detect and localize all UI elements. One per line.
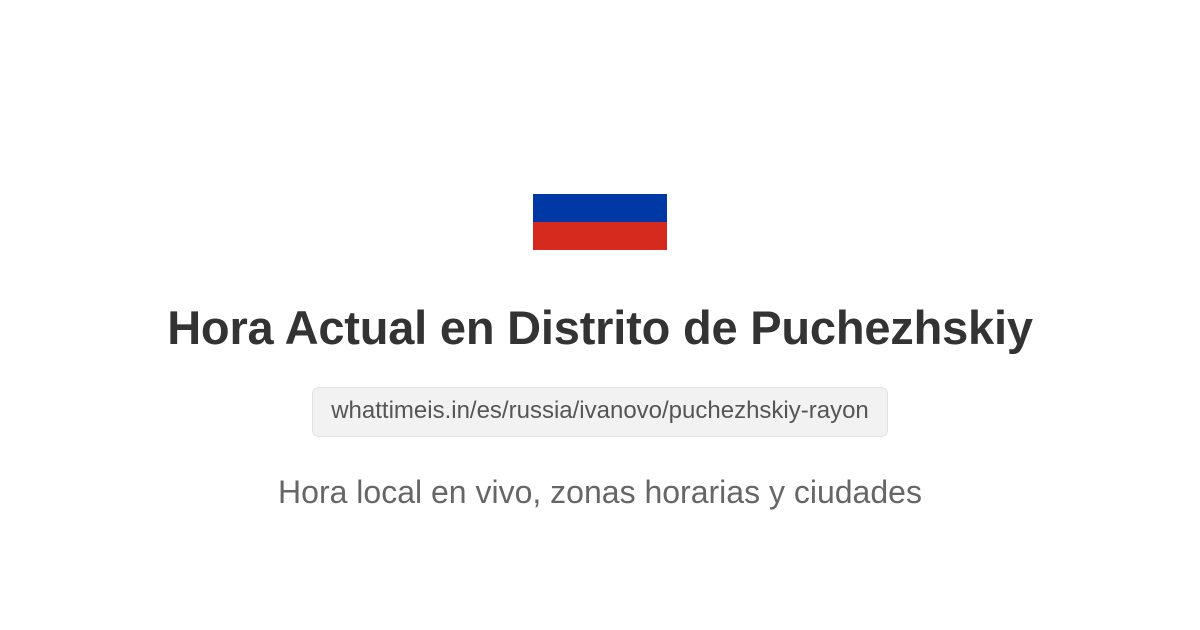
site-url-pill[interactable]: whattimeis.in/es/russia/ivanovo/puchezhs… <box>312 387 888 437</box>
og-preview-card: Hora Actual en Distrito de Puchezhskiy w… <box>0 0 1200 630</box>
russia-flag <box>533 166 667 250</box>
flag-stripe-white <box>533 166 667 194</box>
page-subtitle: Hora local en vivo, zonas horarias y ciu… <box>278 473 922 511</box>
flag-stripe-red <box>533 222 667 250</box>
flag-stripe-blue <box>533 194 667 222</box>
page-title: Hora Actual en Distrito de Puchezhskiy <box>167 302 1033 355</box>
